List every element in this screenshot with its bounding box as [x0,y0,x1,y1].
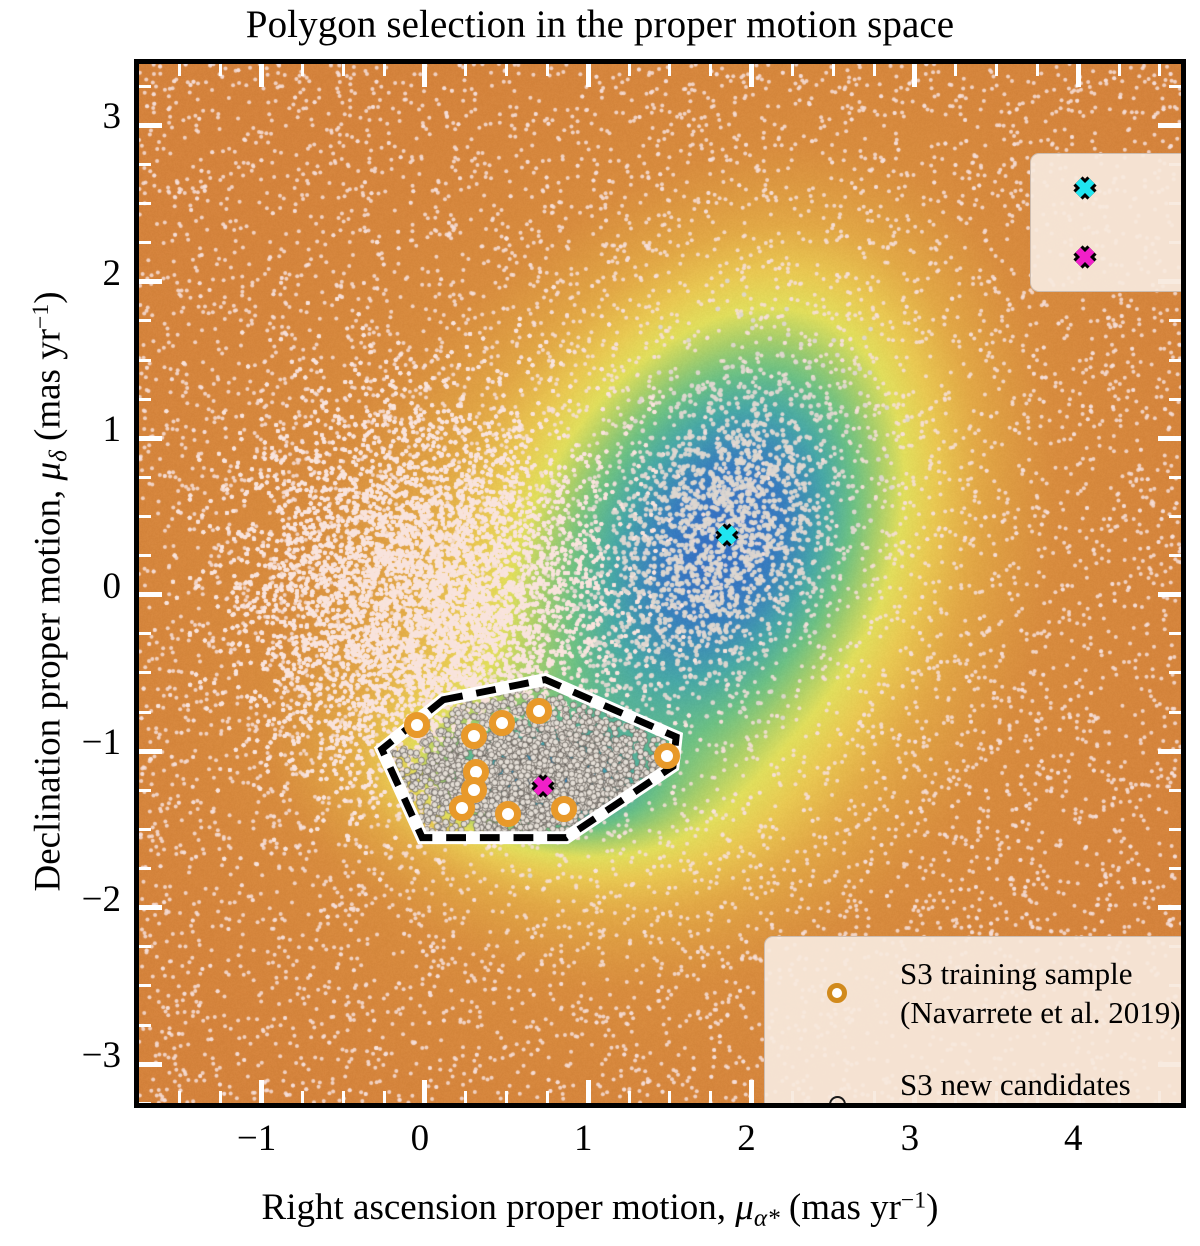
lmc-x-marker [714,522,740,548]
training-sample-marker [495,801,521,827]
legend-row-lmc[interactable]: LMC [1031,154,1186,223]
x-marker-cyan-icon [1072,175,1098,201]
training-sample-marker [489,710,515,736]
legend-label: S3 training sample(Navarrete et al. 2019… [900,954,1181,1032]
marker-glyph [827,983,847,1003]
training-sample-marker [461,723,487,749]
x-tick-label: −1 [217,1117,297,1160]
x-tick-label: 2 [707,1117,787,1160]
y-axis-title: Declination proper motion, μδ (mas yr−1) [26,62,73,1122]
legend-label-line2: (Navarrete et al. 2019) [900,993,1181,1032]
training-sample-marker [654,743,680,769]
training-sample-marker [551,796,577,822]
legend-row-new-candidates[interactable]: S3 new candidates(neural network + pm) [765,1049,1186,1109]
legend-label-line1: S3 new candidates [900,1065,1180,1104]
marker-glyph [829,1096,846,1108]
legend-label: LMC [1181,166,1186,211]
training-sample-marker [526,698,552,724]
training-sample-marker [404,712,430,738]
legend-row-smc[interactable]: SMC [1031,223,1186,292]
x-tick-label: 1 [543,1117,623,1160]
x-tick-label: 0 [380,1117,460,1160]
legend-galaxies[interactable]: LMCSMC [1030,153,1186,292]
page-title: Polygon selection in the proper motion s… [0,2,1200,48]
x-marker-magenta-icon [1072,244,1098,270]
legend-label-line1: S3 training sample [900,954,1181,993]
legend-row-training-sample[interactable]: S3 training sample(Navarrete et al. 2019… [765,937,1186,1049]
x-tick-label: 4 [1033,1117,1113,1160]
legend-label-line2: (neural network + pm) [900,1104,1180,1108]
training-sample-marker [449,795,475,821]
x-axis-title: Right ascension proper motion, μα* (mas … [0,1186,1200,1233]
figure-panel: Polygon selection in the proper motion s… [0,0,1200,1246]
legend-label: SMC [1181,234,1186,279]
smc-x-marker [530,773,556,799]
x-tick-label: 3 [870,1117,950,1160]
legend-samples[interactable]: S3 training sample(Navarrete et al. 2019… [764,936,1186,1108]
plot-area: LMCSMC S3 training sample(Navarrete et a… [134,59,1186,1108]
legend-label: S3 new candidates(neural network + pm) [900,1065,1180,1108]
